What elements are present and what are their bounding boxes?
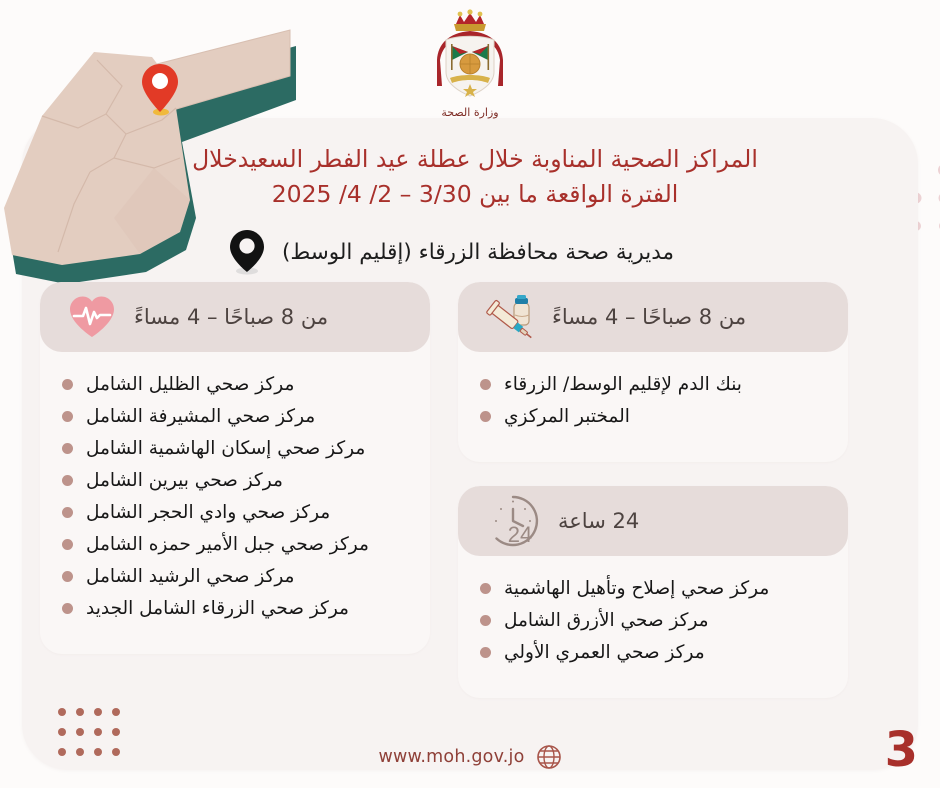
list-item-label: مركز صحي الظليل الشامل — [86, 372, 294, 397]
map-pin-icon — [142, 64, 178, 116]
column-right: من 8 صباحًا – 4 مساءً مركز صحي الظليل ال… — [40, 282, 430, 712]
card-header-title: من 8 صباحًا – 4 مساءً — [552, 305, 746, 329]
bullet-icon — [62, 379, 73, 390]
list-item: مركز صحي الزرقاء الشامل الجديد — [62, 596, 408, 621]
list-item-label: مركز صحي إسكان الهاشمية الشامل — [86, 436, 365, 461]
bullet-icon — [62, 507, 73, 518]
title-line-2: الفترة الواقعة ما بين 3/30 – 2/ 4/ 2025 — [130, 177, 820, 212]
columns-container: من 8 صباحًا – 4 مساءً مركز صحي الظليل ال… — [40, 282, 900, 712]
list-item: بنك الدم لإقليم الوسط/ الزرقاء — [480, 372, 826, 397]
bullet-icon — [62, 411, 73, 422]
bullet-icon — [480, 411, 491, 422]
list-item: مركز صحي إسكان الهاشمية الشامل — [62, 436, 408, 461]
bullet-icon — [62, 571, 73, 582]
website-url[interactable]: www.moh.gov.jo — [378, 747, 524, 767]
ministry-emblem: وزارة الصحة — [418, 8, 522, 120]
card-lab-bloodbank: من 8 صباحًا – 4 مساءً بنك الدم لإقليم ال… — [458, 282, 848, 462]
bullet-icon — [480, 379, 491, 390]
footer: www.moh.gov.jo — [0, 744, 940, 770]
bullet-icon — [480, 647, 491, 658]
page-title: المراكز الصحية المناوبة خلال عطلة عيد ال… — [0, 142, 940, 212]
page-number: 3 — [885, 726, 918, 774]
list-item-label: مركز صحي الزرقاء الشامل الجديد — [86, 596, 349, 621]
card-daytime-centers: من 8 صباحًا – 4 مساءً مركز صحي الظليل ال… — [40, 282, 430, 654]
bullet-icon — [62, 443, 73, 454]
subtitle-text: مديرية صحة محافظة الزرقاء (إقليم الوسط) — [282, 240, 674, 265]
emblem-caption: وزارة الصحة — [441, 106, 498, 119]
list-item-label: مركز صحي جبل الأمير حمزه الشامل — [86, 532, 369, 557]
card-header: من 8 صباحًا – 4 مساءً — [40, 282, 430, 352]
globe-icon — [536, 744, 562, 770]
list-item-label: بنك الدم لإقليم الوسط/ الزرقاء — [504, 372, 742, 397]
column-left: من 8 صباحًا – 4 مساءً بنك الدم لإقليم ال… — [458, 282, 848, 712]
list-item: مركز صحي العمري الأولي — [480, 640, 826, 665]
24h-center-list: مركز صحي إصلاح وتأهيل الهاشمية مركز صحي … — [458, 556, 848, 698]
card-header-title: 24 ساعة — [558, 509, 639, 533]
list-item: مركز صحي الرشيد الشامل — [62, 564, 408, 589]
bullet-icon — [62, 603, 73, 614]
syringe-vial-icon — [484, 291, 536, 343]
list-item: مركز صحي وادي الحجر الشامل — [62, 500, 408, 525]
list-item: المختبر المركزي — [480, 404, 826, 429]
health-center-list: مركز صحي الظليل الشامل مركز صحي المشيرفة… — [40, 352, 430, 654]
list-item-label: مركز صحي وادي الحجر الشامل — [86, 500, 330, 525]
jordan-coat-of-arms-icon — [418, 8, 522, 104]
list-item-label: مركز صحي الأزرق الشامل — [504, 608, 709, 633]
list-item-label: مركز صحي العمري الأولي — [504, 640, 705, 665]
directorate-subtitle: مديرية صحة محافظة الزرقاء (إقليم الوسط) — [0, 228, 940, 276]
list-item: مركز صحي المشيرفة الشامل — [62, 404, 408, 429]
bullet-icon — [480, 583, 491, 594]
card-24h-centers: 24 24 ساعة مركز صحي إصلاح وتأهيل الهاشمي… — [458, 486, 848, 698]
card-header: 24 24 ساعة — [458, 486, 848, 556]
bullet-icon — [62, 475, 73, 486]
list-item: مركز صحي بيرين الشامل — [62, 468, 408, 493]
list-item-label: مركز صحي إصلاح وتأهيل الهاشمية — [504, 576, 769, 601]
list-item-label: مركز صحي بيرين الشامل — [86, 468, 283, 493]
title-line-1: المراكز الصحية المناوبة خلال عطلة عيد ال… — [130, 142, 820, 177]
list-item-label: مركز صحي الرشيد الشامل — [86, 564, 294, 589]
svg-text:24: 24 — [508, 522, 532, 547]
list-item: مركز صحي الظليل الشامل — [62, 372, 408, 397]
list-item-label: مركز صحي المشيرفة الشامل — [86, 404, 315, 429]
bullet-icon — [480, 615, 491, 626]
lab-bloodbank-list: بنك الدم لإقليم الوسط/ الزرقاء المختبر ا… — [458, 352, 848, 462]
location-pin-icon — [226, 228, 268, 276]
infographic-page: وزارة الصحة المراكز الصحية المناوبة خلال… — [0, 0, 940, 788]
list-item-label: المختبر المركزي — [504, 404, 630, 429]
card-header: من 8 صباحًا – 4 مساءً — [458, 282, 848, 352]
heartbeat-icon — [66, 291, 118, 343]
list-item: مركز صحي جبل الأمير حمزه الشامل — [62, 532, 408, 557]
list-item: مركز صحي الأزرق الشامل — [480, 608, 826, 633]
bullet-icon — [62, 539, 73, 550]
list-item: مركز صحي إصلاح وتأهيل الهاشمية — [480, 576, 826, 601]
clock-24-icon: 24 — [484, 492, 542, 550]
card-header-title: من 8 صباحًا – 4 مساءً — [134, 305, 328, 329]
